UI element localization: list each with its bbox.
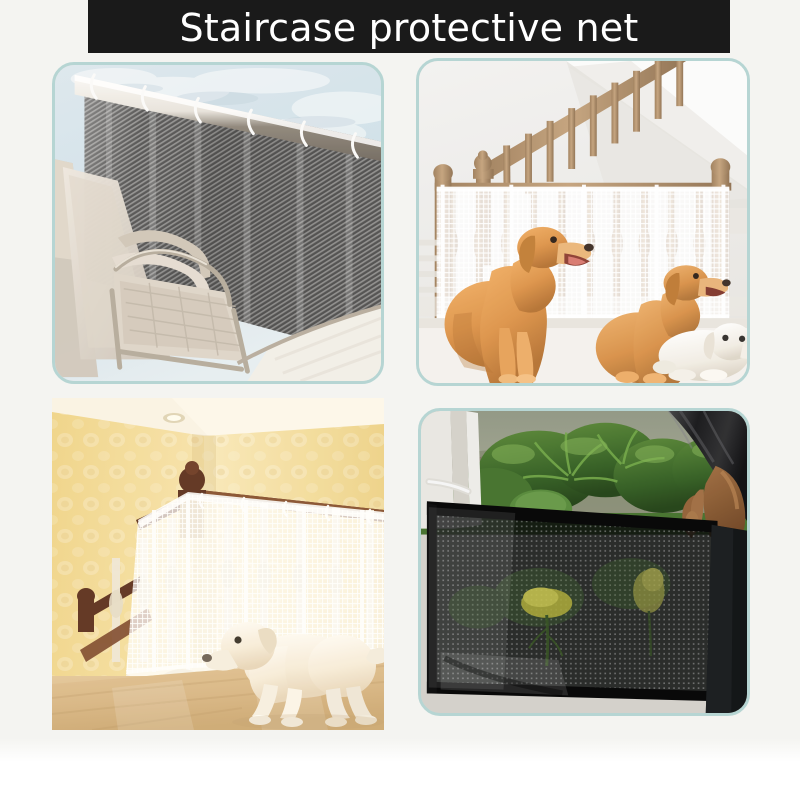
panel-bottom-right[interactable] xyxy=(418,408,750,716)
panel-top-right[interactable] xyxy=(416,58,750,386)
product-collage-page: Staircase protective net xyxy=(0,0,800,800)
window-black-mesh-scene xyxy=(421,411,747,713)
staircase-white-net-dogs-scene xyxy=(419,61,747,383)
collage-backdrop-fade xyxy=(0,738,800,762)
landing-white-net-puppy-scene xyxy=(52,398,384,730)
panel-top-left[interactable] xyxy=(52,62,384,384)
page-title: Staircase protective net xyxy=(180,9,639,47)
title-banner: Staircase protective net xyxy=(88,0,730,53)
panel-bottom-left[interactable] xyxy=(52,398,384,730)
balcony-dark-mesh-scene xyxy=(55,65,381,381)
